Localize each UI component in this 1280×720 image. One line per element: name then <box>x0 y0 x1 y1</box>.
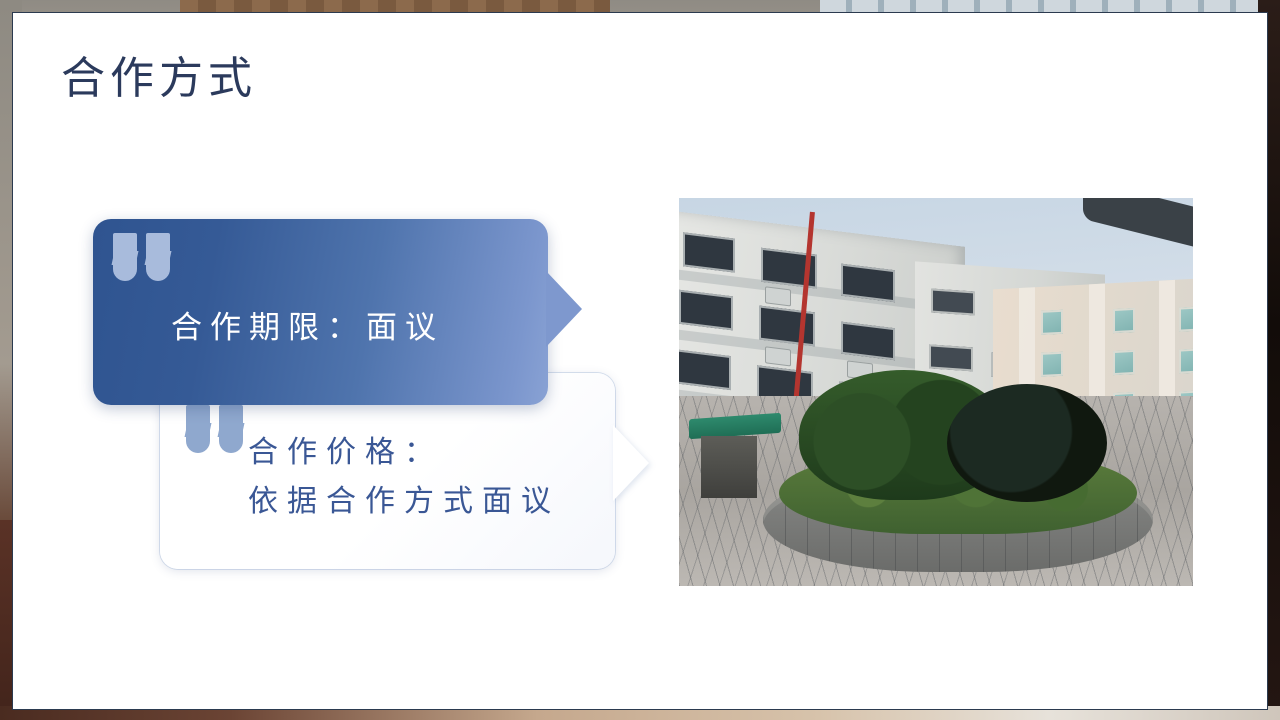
cooperation-price-line2: 依据合作方式面议 <box>248 478 560 527</box>
cooperation-term-card[interactable]: 合作期限：面议 <box>93 219 548 405</box>
campus-courtyard-photo <box>679 198 1193 586</box>
callout-tail-white <box>613 425 649 501</box>
quote-open-icon <box>186 405 248 455</box>
callout-tail-blue <box>546 271 582 347</box>
photo-entrance-door <box>701 436 757 498</box>
slide-canvas[interactable]: 合作方式 合作价格： 依据合作方式面议 合作期限：面议 <box>12 12 1268 710</box>
photo-dark-shrub <box>947 384 1107 502</box>
cooperation-term-text: 合作期限：面议 <box>171 305 444 352</box>
cooperation-price-line1: 合作价格： <box>248 429 560 478</box>
quote-open-icon <box>113 233 175 283</box>
cooperation-price-text: 合作价格： 依据合作方式面议 <box>248 429 560 526</box>
